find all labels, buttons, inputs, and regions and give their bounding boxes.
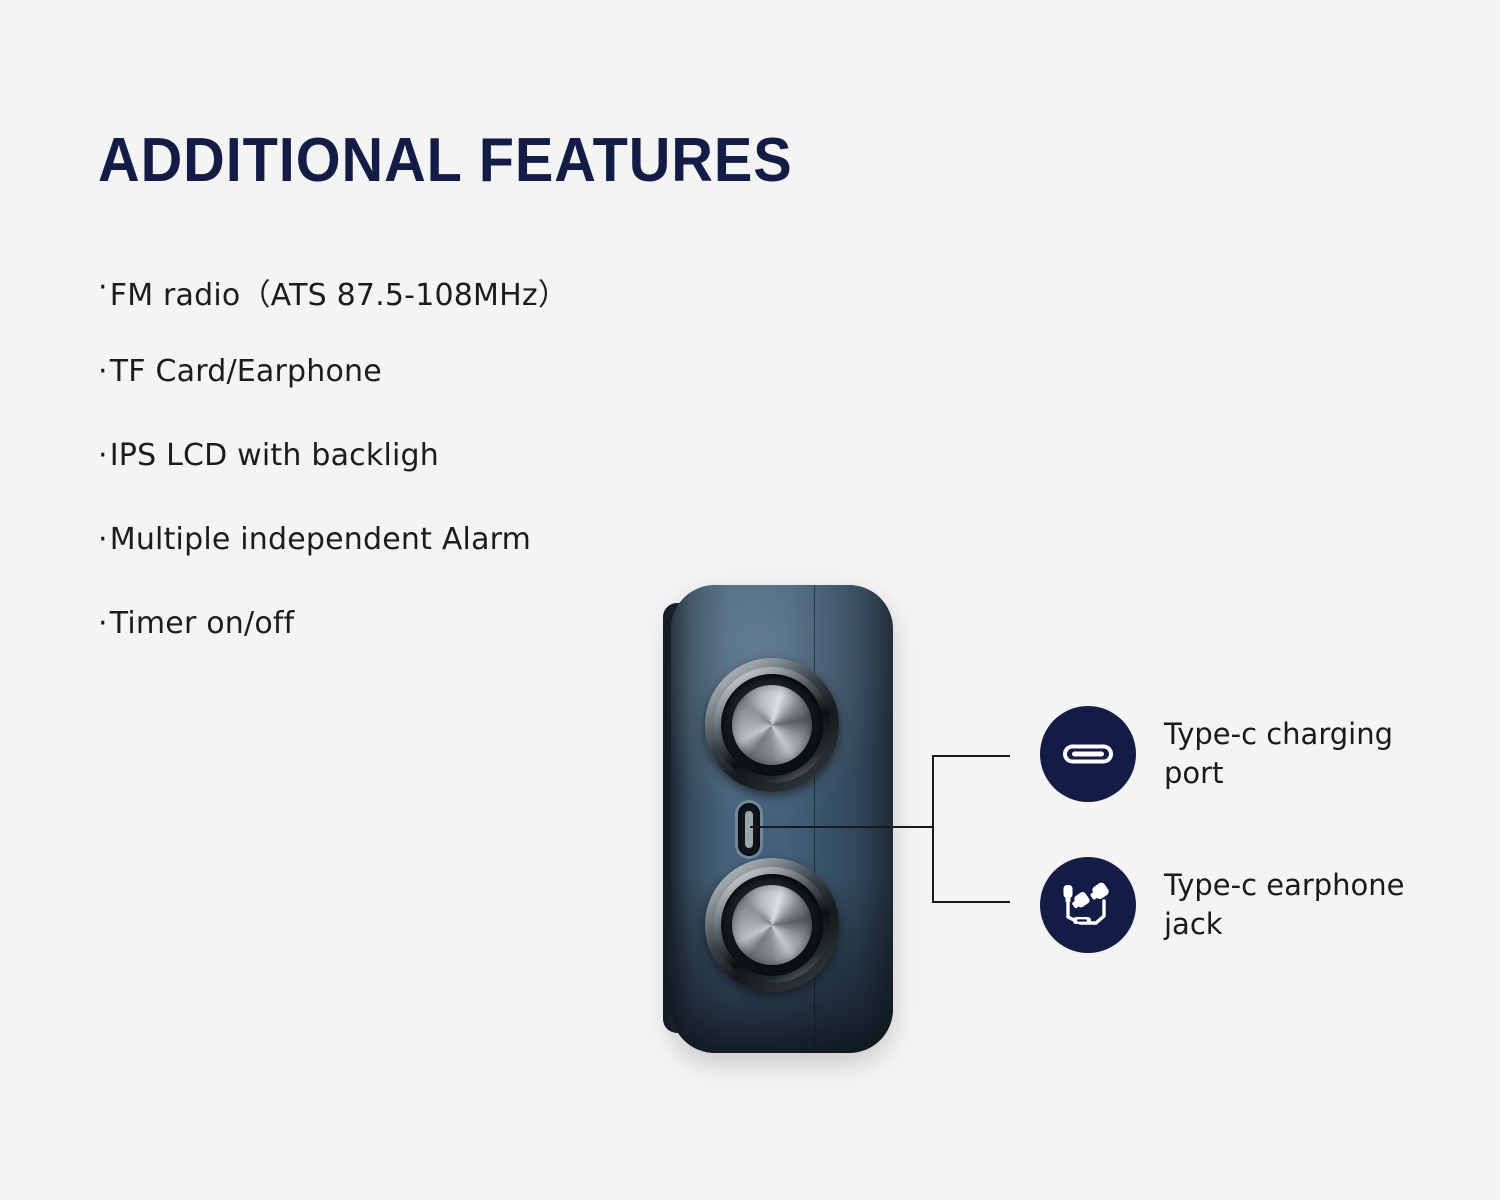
feature-label: IPS LCD with backligh xyxy=(110,438,439,473)
list-item: · FM radio（ATS 87.5-108MHz） xyxy=(98,270,738,354)
additional-features-page: ADDITIONAL FEATURES · FM radio（ATS 87.5-… xyxy=(0,0,1500,1200)
driver-gloss xyxy=(732,885,812,965)
bullet-marker: · xyxy=(98,522,108,557)
list-item: · Multiple independent Alarm xyxy=(98,522,738,606)
bullet-marker: · xyxy=(98,270,108,305)
bullet-marker: · xyxy=(98,606,108,641)
callout-label: Type-c earphone jack xyxy=(1164,857,1424,943)
bullet-marker: · xyxy=(98,354,108,389)
leader-line-branch-bottom xyxy=(932,901,1010,903)
feature-label: TF Card/Earphone xyxy=(110,354,382,389)
speaker-driver-bottom xyxy=(705,858,839,992)
device-usb-c-port xyxy=(738,803,760,856)
leader-line-branch-top xyxy=(932,755,1010,757)
feature-label: Multiple independent Alarm xyxy=(110,522,531,557)
callout-charging-port: Type-c charging port xyxy=(1040,706,1424,802)
driver-gloss xyxy=(732,685,812,765)
callout-earphone-jack: Type-c earphone jack xyxy=(1040,857,1424,953)
list-item: · Timer on/off xyxy=(98,606,738,690)
usb-c-port-icon xyxy=(1040,706,1136,802)
feature-label: Timer on/off xyxy=(110,606,295,641)
list-item: · TF Card/Earphone xyxy=(98,354,738,438)
bullet-marker: · xyxy=(98,438,108,473)
leader-line-horizontal xyxy=(750,826,934,828)
leader-line-vertical xyxy=(932,755,934,903)
product-image xyxy=(655,575,915,1065)
speaker-driver-top xyxy=(705,658,839,792)
feature-label: FM radio（ATS 87.5-108MHz） xyxy=(110,270,568,314)
earphones-icon xyxy=(1040,857,1136,953)
list-item: · IPS LCD with backligh xyxy=(98,438,738,522)
device-seam-line xyxy=(814,585,815,1053)
feature-list: · FM radio（ATS 87.5-108MHz） · TF Card/Ea… xyxy=(98,270,738,690)
page-title: ADDITIONAL FEATURES xyxy=(98,125,793,196)
callout-label: Type-c charging port xyxy=(1164,706,1424,792)
